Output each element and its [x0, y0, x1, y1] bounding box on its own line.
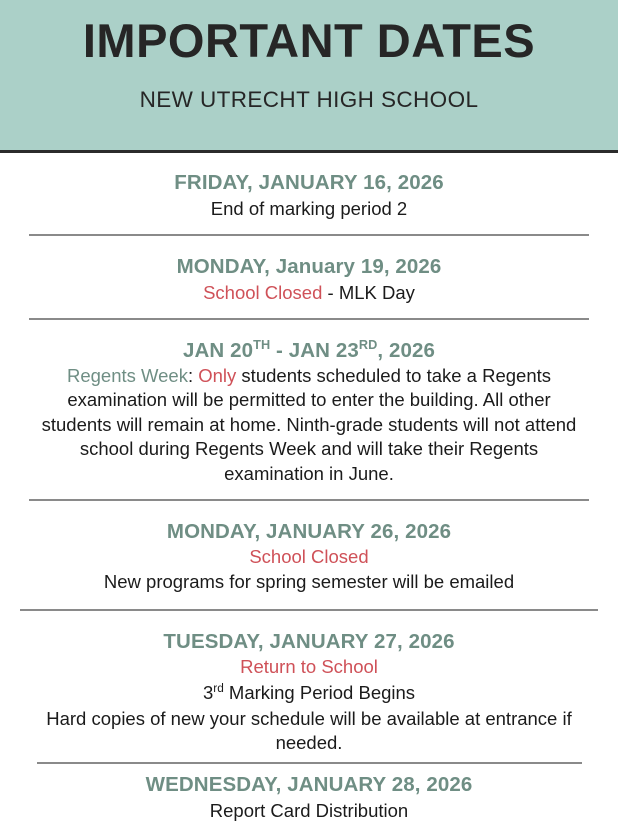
school-name-subtitle: NEW UTRECHT HIGH SCHOOL [140, 87, 479, 113]
date-range-separator: - JAN 23 [270, 339, 359, 362]
date-entry-jan-16: FRIDAY, JANUARY 16, 2026 End of marking … [0, 170, 618, 222]
dates-list: FRIDAY, JANUARY 16, 2026 End of marking … [0, 153, 618, 824]
spacer [0, 764, 618, 772]
spacer [0, 222, 618, 234]
marking-period-text: Marking Period Begins [224, 682, 415, 703]
return-to-school-label: Return to School [16, 655, 602, 680]
date-entry-jan-19: MONDAY, January 19, 2026 School Closed -… [0, 254, 618, 306]
date-entry-jan-28: WEDNESDAY, JANUARY 28, 2026 Report Card … [0, 772, 618, 824]
ordinal-suffix-th: TH [253, 337, 270, 352]
page-title: IMPORTANT DATES [83, 16, 535, 67]
date-heading: MONDAY, JANUARY 26, 2026 [16, 519, 602, 544]
date-range-start: JAN 20 [183, 339, 253, 362]
date-detail: New programs for spring semester will be… [16, 570, 602, 595]
only-emphasis: Only [198, 365, 236, 386]
spacer [0, 595, 618, 609]
flyer-page: IMPORTANT DATES NEW UTRECHT HIGH SCHOOL … [0, 0, 618, 800]
school-closed-label: School Closed [203, 282, 322, 303]
date-heading: MONDAY, January 19, 2026 [16, 254, 602, 279]
spacer [0, 611, 618, 629]
regents-week-label: Regents Week [67, 365, 188, 386]
holiday-label: - MLK Day [322, 282, 415, 303]
spacer [0, 320, 618, 338]
marking-period-line: 3rd Marking Period Begins [16, 681, 602, 706]
schedule-pickup-note: Hard copies of new your schedule will be… [39, 707, 579, 756]
spacer [0, 236, 618, 254]
spacer [0, 306, 618, 318]
date-entry-jan-27: TUESDAY, JANUARY 27, 2026 Return to Scho… [0, 629, 618, 756]
date-entry-regents-week: JAN 20TH - JAN 23RD, 2026 Regents Week: … [0, 338, 618, 487]
date-detail: School Closed - MLK Day [16, 281, 602, 306]
page-header: IMPORTANT DATES NEW UTRECHT HIGH SCHOOL [0, 0, 618, 153]
date-heading: TUESDAY, JANUARY 27, 2026 [16, 629, 602, 654]
label-colon: : [188, 365, 198, 386]
ordinal-suffix-rd: rd [213, 681, 224, 695]
spacer [0, 153, 618, 170]
spacer [0, 487, 618, 499]
spacer [0, 501, 618, 519]
regents-week-description: Regents Week: Only students scheduled to… [39, 364, 579, 487]
date-range-year: , 2026 [377, 339, 435, 362]
ordinal-number: 3 [203, 682, 213, 703]
school-closed-label: School Closed [16, 545, 602, 570]
date-heading: WEDNESDAY, JANUARY 28, 2026 [16, 772, 602, 797]
ordinal-suffix-rd: RD [359, 337, 378, 352]
date-detail: End of marking period 2 [16, 197, 602, 222]
date-heading: FRIDAY, JANUARY 16, 2026 [16, 170, 602, 195]
date-detail: Report Card Distribution [16, 799, 602, 824]
date-heading: JAN 20TH - JAN 23RD, 2026 [16, 338, 602, 363]
date-entry-jan-26: MONDAY, JANUARY 26, 2026 School Closed N… [0, 519, 618, 596]
